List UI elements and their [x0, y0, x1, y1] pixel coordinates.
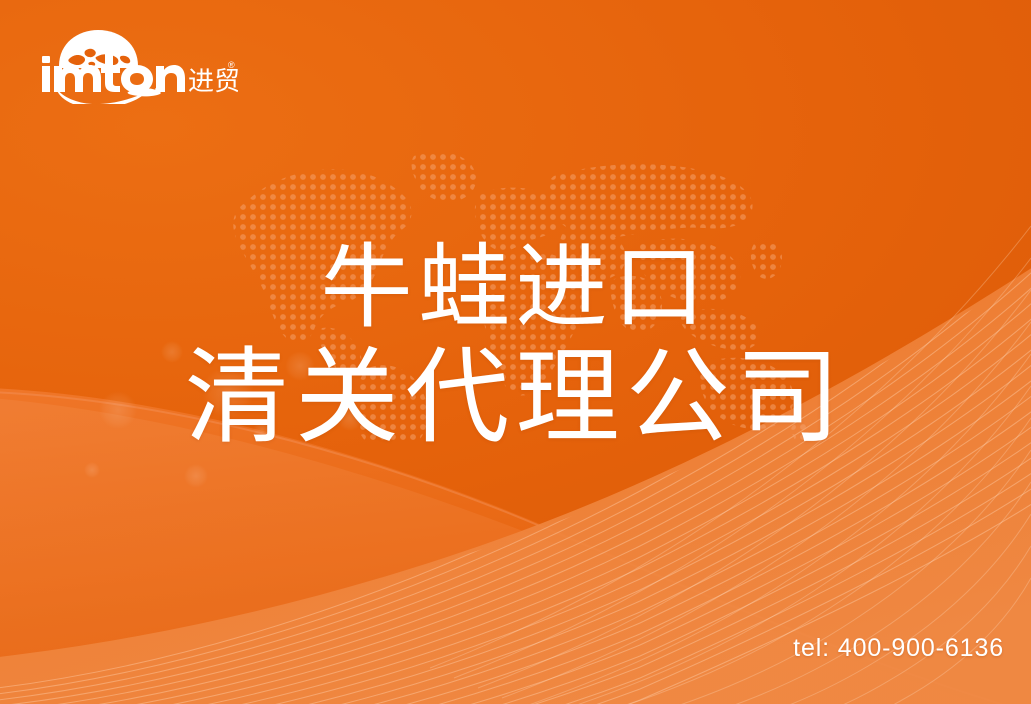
brand-logo[interactable]: 进贸通 ®	[38, 26, 238, 104]
contact-telephone[interactable]: tel: 400-900-6136	[793, 633, 1004, 663]
promo-banner: 进贸通 ® 牛蛙进口 清关代理公司 tel: 400-900-6136	[0, 0, 1031, 704]
registered-trademark-icon: ®	[228, 60, 235, 70]
logo-wordmark-chinese: 进贸通	[188, 67, 238, 97]
globe-dome-icon	[59, 30, 138, 68]
dotted-world-map	[218, 132, 808, 444]
